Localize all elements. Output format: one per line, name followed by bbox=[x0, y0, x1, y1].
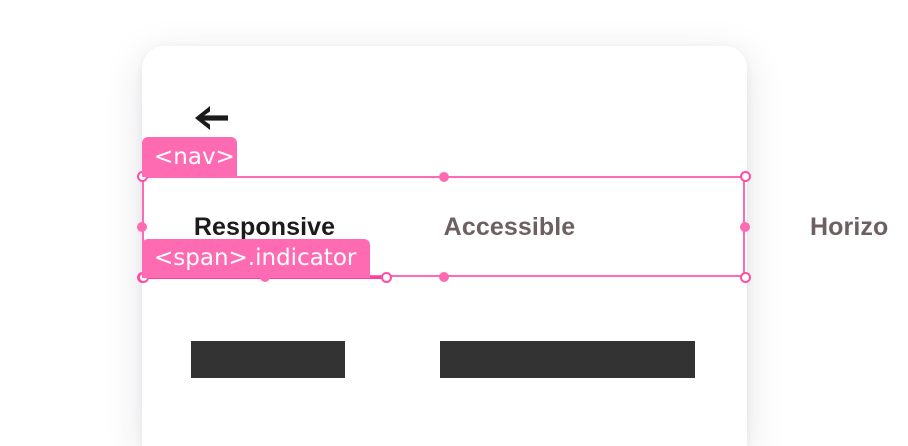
arrow-left-icon bbox=[191, 101, 233, 135]
content-placeholder-bar-2 bbox=[440, 341, 695, 378]
resize-handle-top-middle[interactable] bbox=[439, 172, 449, 182]
nav-tab-accessible[interactable]: Accessible bbox=[387, 177, 632, 277]
resize-handle-middle-right[interactable] bbox=[740, 222, 750, 232]
resize-handle-bottom-right[interactable] bbox=[740, 272, 751, 283]
resize-handle-bottom-middle[interactable] bbox=[439, 272, 449, 282]
element-tag-label-nav[interactable]: <nav> bbox=[142, 137, 237, 177]
resize-handle-top-right[interactable] bbox=[740, 171, 751, 182]
resize-handle-middle-left[interactable] bbox=[137, 222, 147, 232]
indicator-handle-right[interactable] bbox=[381, 272, 392, 283]
back-arrow-button[interactable] bbox=[191, 101, 233, 135]
nav-tab-horizontal[interactable]: Horizo bbox=[632, 177, 877, 277]
element-tag-label-indicator[interactable]: <span>.indicator bbox=[142, 239, 370, 278]
content-placeholder-bar-1 bbox=[191, 341, 345, 378]
